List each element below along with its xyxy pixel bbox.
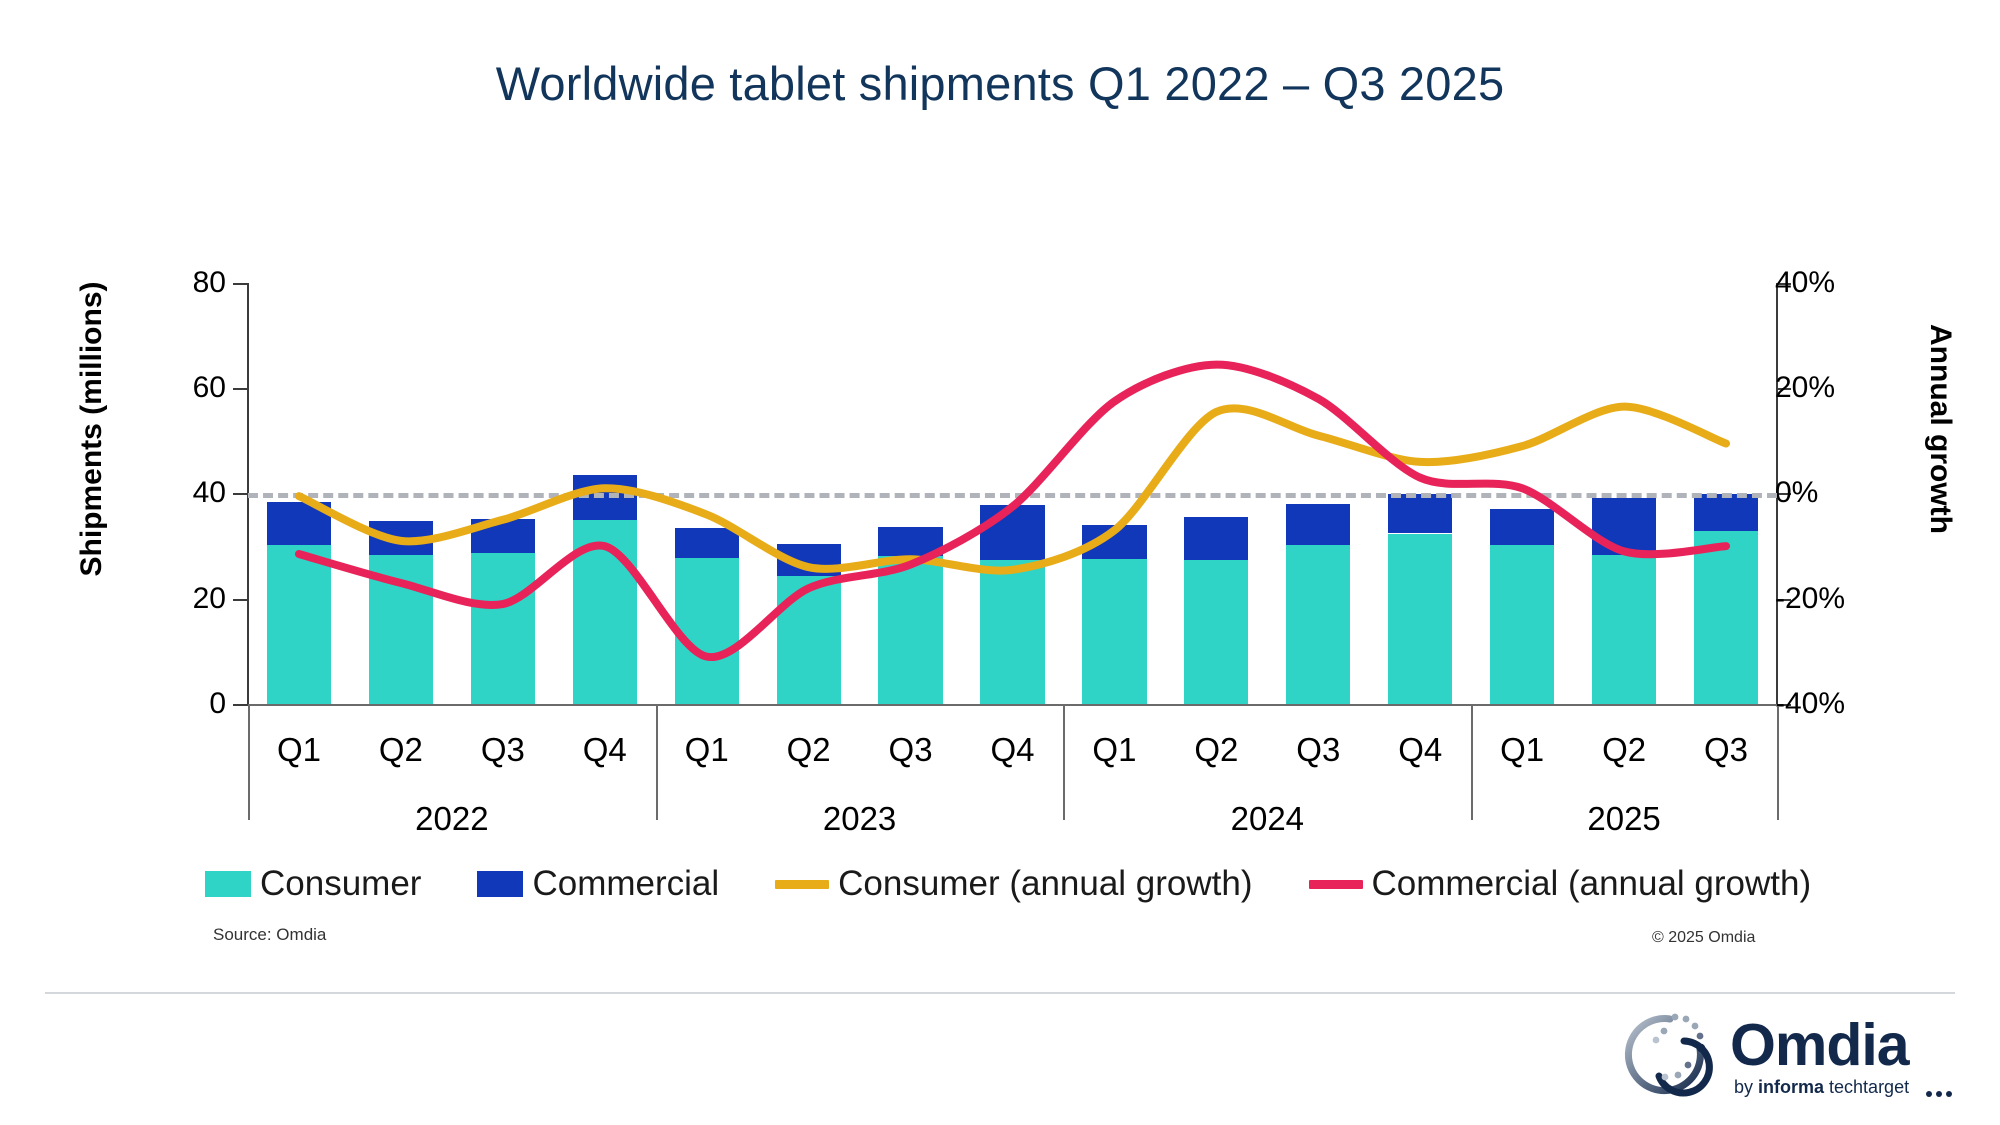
omdia-tagline-by: by (1734, 1077, 1758, 1097)
x-label-q2-2023: Q2 (759, 731, 859, 769)
year-separator-2024 (1063, 706, 1065, 820)
x-year-label-2024: 2024 (1187, 800, 1347, 838)
legend-consumer-growth-line-icon (775, 880, 829, 889)
left-tick-0 (233, 704, 247, 706)
year-separator-end (1777, 706, 1779, 820)
x-label-q1-2024: Q1 (1064, 731, 1164, 769)
year-separator-2023 (656, 706, 658, 820)
legend-commercial-label: Commercial (532, 864, 719, 904)
x-label-q4-2024: Q4 (1370, 731, 1470, 769)
x-label-q1-2022: Q1 (249, 731, 349, 769)
footer-divider (45, 992, 1955, 994)
year-separator-2025 (1471, 706, 1473, 820)
left-tick-80 (233, 283, 247, 285)
omdia-dots-icon (1922, 1084, 1952, 1102)
legend-commercial-growth-label: Commercial (annual growth) (1372, 864, 1812, 904)
x-label-q2-2022: Q2 (351, 731, 451, 769)
legend-consumer-label: Consumer (260, 864, 421, 904)
x-label-q1-2025: Q1 (1472, 731, 1572, 769)
omdia-logo: Omdia by informa techtarget (1612, 1005, 1952, 1105)
growth-lines-overlay (248, 283, 1778, 706)
legend-consumer[interactable]: Consumer (205, 864, 421, 904)
x-year-label-2025: 2025 (1544, 800, 1704, 838)
x-label-q4-2023: Q4 (963, 731, 1063, 769)
legend-commercial-growth[interactable]: Commercial (annual growth) (1309, 864, 1812, 904)
omdia-tagline-brand: informa (1758, 1077, 1824, 1097)
x-label-q2-2024: Q2 (1166, 731, 1266, 769)
omdia-tagline-rest: techtarget (1824, 1077, 1909, 1097)
x-label-q3-2025: Q3 (1676, 731, 1776, 769)
source-note: Source: Omdia (213, 925, 326, 945)
page-title: Worldwide tablet shipments Q1 2022 – Q3 … (0, 56, 2000, 111)
commercial-growth-line (299, 365, 1726, 658)
right-tick-label-m20: -20% (1775, 584, 1885, 614)
legend-consumer-swatch (205, 871, 251, 897)
legend-commercial-growth-line-icon (1309, 880, 1363, 889)
left-tick-label-0: 0 (148, 689, 226, 719)
left-tick-label-40: 40 (148, 478, 226, 508)
right-tick-label-20: 20% (1775, 373, 1885, 403)
year-separator-2022 (248, 706, 250, 820)
omdia-wordmark: Omdia (1730, 1011, 1909, 1079)
legend-consumer-growth-label: Consumer (annual growth) (838, 864, 1252, 904)
left-tick-60 (233, 388, 247, 390)
x-label-q4-2022: Q4 (555, 731, 655, 769)
left-tick-label-80: 80 (148, 268, 226, 298)
legend-commercial-swatch (477, 871, 523, 897)
right-tick-label-40: 40% (1775, 268, 1885, 298)
left-axis-title: Shipments (millions) (75, 279, 109, 579)
x-label-q3-2022: Q3 (453, 731, 553, 769)
x-label-q3-2023: Q3 (861, 731, 961, 769)
left-tick-label-20: 20 (148, 584, 226, 614)
x-label-q3-2024: Q3 (1268, 731, 1368, 769)
right-tick-label-m40: -40% (1775, 689, 1885, 719)
x-year-label-2022: 2022 (372, 800, 532, 838)
left-tick-40 (233, 493, 247, 495)
copyright-note: © 2025 Omdia (1652, 929, 1755, 947)
right-axis-title: Annual growth (1923, 279, 1957, 579)
left-tick-label-60: 60 (148, 373, 226, 403)
x-label-q1-2023: Q1 (657, 731, 757, 769)
omdia-mark-icon (1612, 1005, 1722, 1105)
omdia-tagline: by informa techtarget (1734, 1077, 1909, 1098)
x-year-label-2023: 2023 (780, 800, 940, 838)
left-tick-20 (233, 599, 247, 601)
x-label-q2-2025: Q2 (1574, 731, 1674, 769)
chart-page: Worldwide tablet shipments Q1 2022 – Q3 … (0, 0, 2000, 1125)
legend-consumer-growth[interactable]: Consumer (annual growth) (775, 864, 1252, 904)
legend-commercial[interactable]: Commercial (477, 864, 719, 904)
right-tick-label-0: 0% (1775, 478, 1885, 508)
